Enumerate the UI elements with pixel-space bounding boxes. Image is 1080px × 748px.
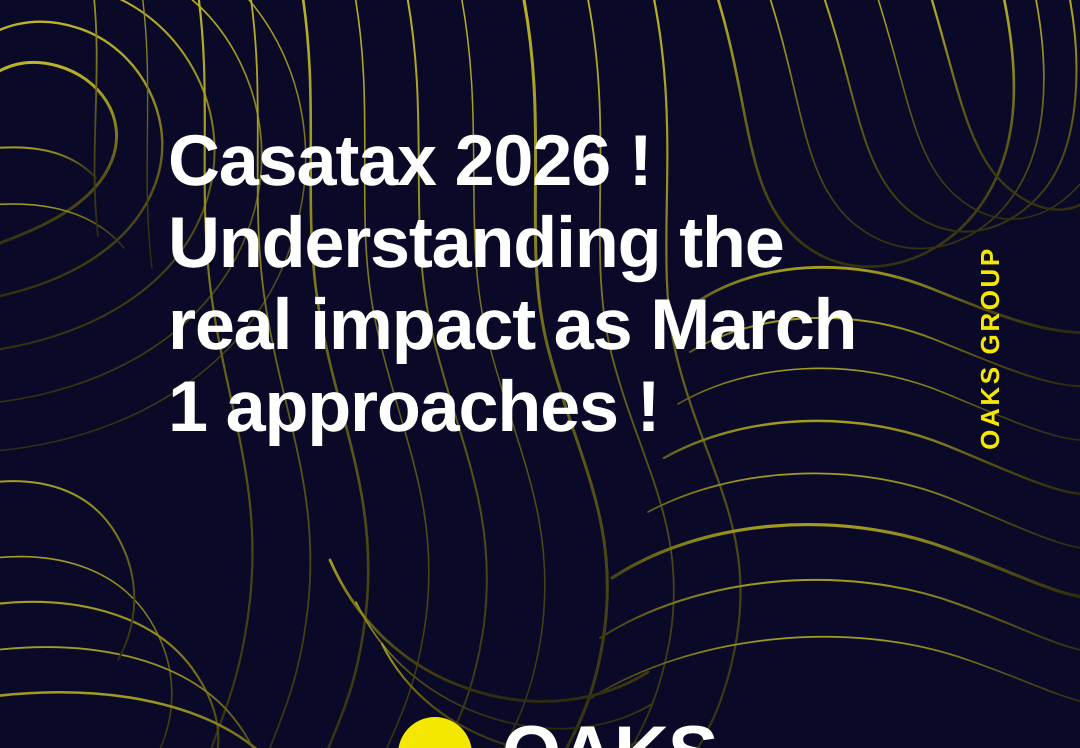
oaks-circle-mark-icon <box>398 717 472 748</box>
page-title: Casatax 2026 ! Understanding the real im… <box>168 120 928 448</box>
brand-rail-label: OAKS GROUP <box>977 246 1003 450</box>
logo-wordmark: OAKS <box>502 716 718 748</box>
logo-lockup: OAKS <box>398 716 718 748</box>
poster-canvas: Casatax 2026 ! Understanding the real im… <box>0 0 1080 748</box>
